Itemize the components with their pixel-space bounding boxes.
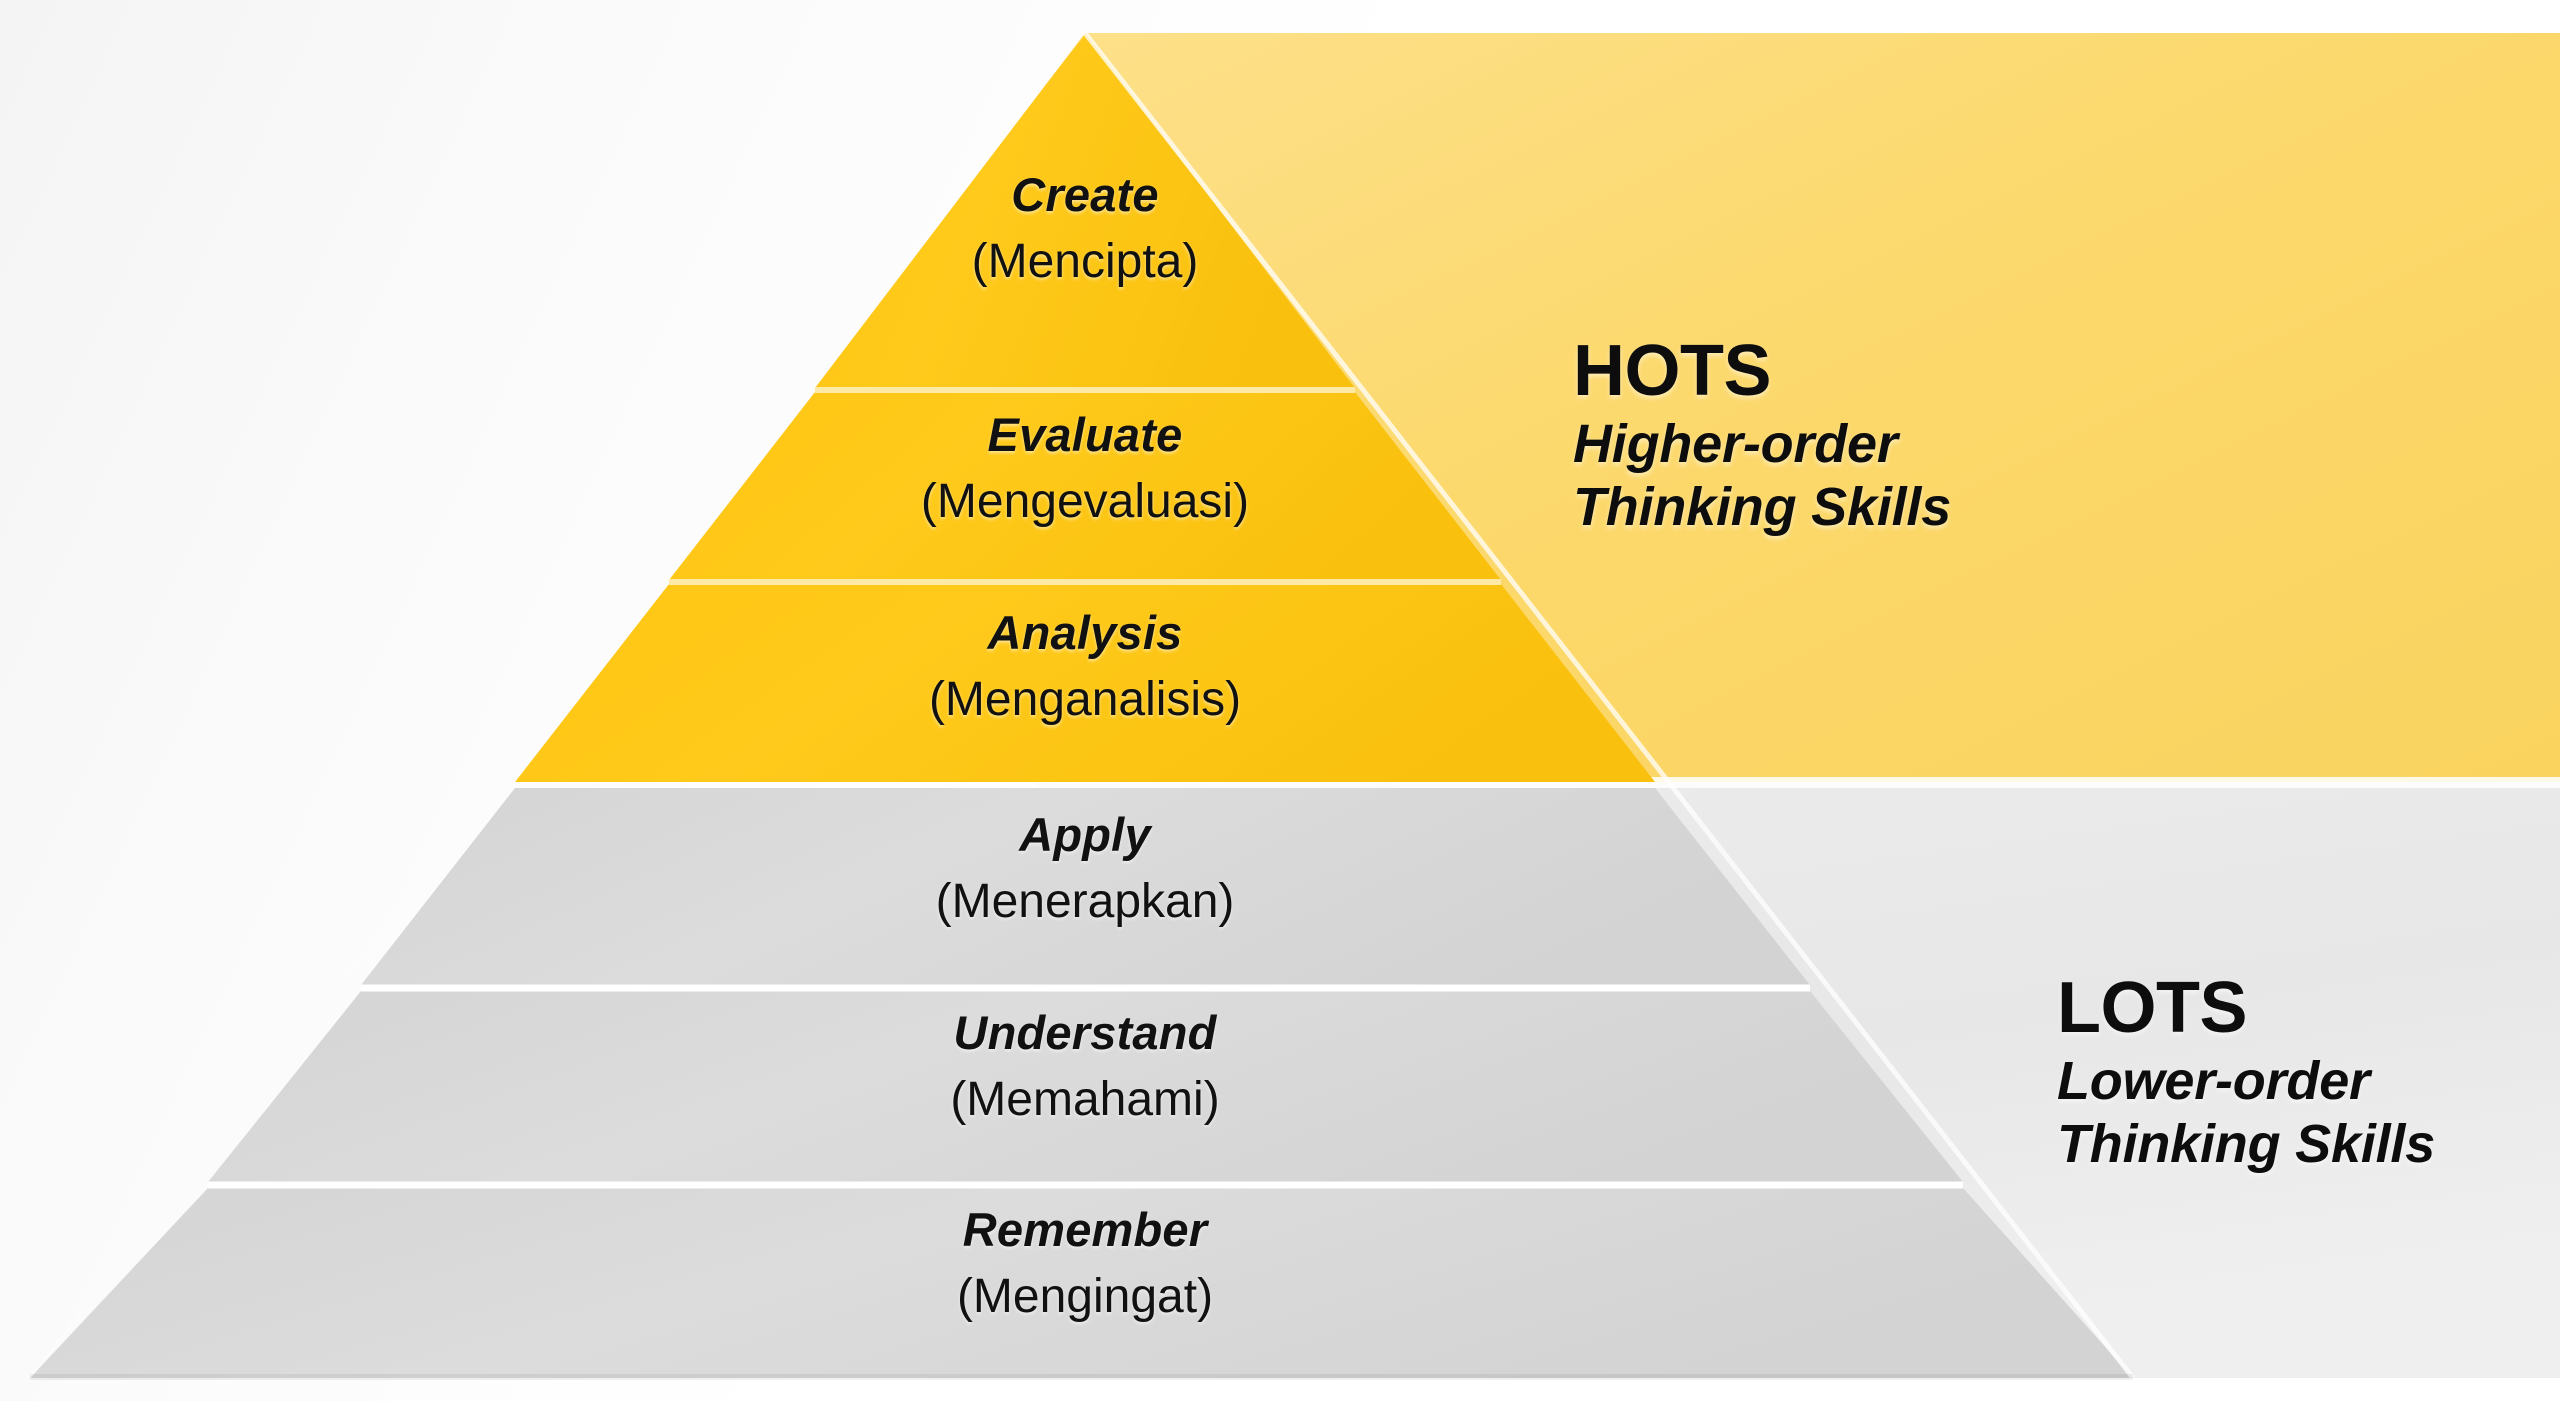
pyramid-level-understand[interactable] [208, 991, 1963, 1182]
pyramid-graphic [0, 0, 2560, 1401]
diagram-canvas: Create (Mencipta) Evaluate (Mengevaluasi… [0, 0, 2560, 1401]
pyramid-level-evaluate[interactable] [669, 392, 1501, 580]
pyramid-level-remember[interactable] [30, 1188, 2133, 1378]
pyramid-base-shadow [30, 1374, 2133, 1380]
pyramid-level-apply[interactable] [361, 788, 1810, 985]
pyramid-level-analysis[interactable] [515, 584, 1655, 782]
